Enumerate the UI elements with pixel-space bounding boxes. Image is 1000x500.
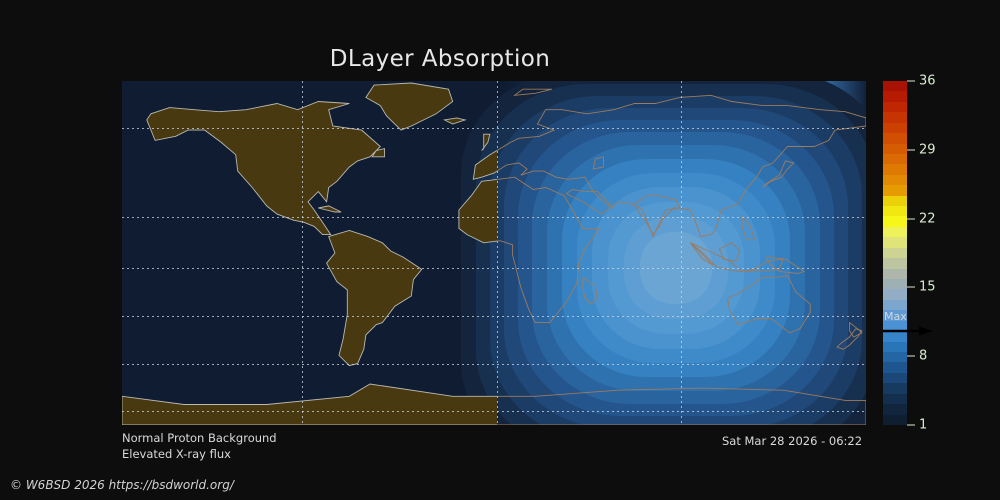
tick-mark [907, 218, 915, 219]
colorbar-segment [883, 185, 907, 195]
colorbar-segment [883, 279, 907, 289]
colorbar-tick: 1 [907, 419, 927, 432]
coastline-day [837, 329, 862, 349]
colorbar-segment [883, 415, 907, 425]
tick-label: 1 [919, 419, 927, 432]
coastline-day [742, 216, 754, 239]
landmass-night [122, 384, 866, 425]
tick-mark [907, 149, 915, 150]
max-marker-label: Max [884, 311, 907, 322]
tick-mark [907, 287, 915, 288]
colorbar-segment [883, 352, 907, 362]
continents-layer [122, 81, 866, 425]
tick-mark [907, 425, 915, 426]
landmass-night [366, 83, 453, 130]
landmass-night [473, 95, 866, 236]
colorbar-segment [883, 133, 907, 143]
colorbar-tick: 8 [907, 350, 927, 363]
colorbar-segment [883, 175, 907, 185]
colorbar-segment [883, 81, 907, 91]
copyright-notice: © W6BSD 2026 https://bsdworld.org/ [10, 478, 234, 492]
colorbar-segment [883, 342, 907, 352]
plot-canvas: DLayer Absorption 3629221581 Affected Fr… [0, 0, 1000, 500]
colorbar-max-marker: Max [883, 311, 945, 341]
colorbar-segment [883, 289, 907, 299]
colorbar-segment [883, 144, 907, 154]
coastline-day [473, 95, 866, 236]
colorbar-segment [883, 269, 907, 279]
landmass-night [327, 231, 422, 366]
status-text: Normal Proton Background Elevated X-ray … [122, 430, 277, 462]
colorbar-segment [883, 227, 907, 237]
world-map [122, 81, 866, 425]
colorbar-segment [883, 258, 907, 268]
colorbar-axis-label: Affected Frequency (MHz) [930, 81, 1000, 425]
colorbar-segment [883, 373, 907, 383]
coastline-day [728, 276, 811, 333]
landmass-night [459, 177, 600, 322]
landmass-night [482, 134, 490, 150]
colorbar-segment [883, 300, 907, 310]
landmass-night [318, 206, 341, 212]
colorbar-segment [883, 196, 907, 206]
colorbar-segment [883, 102, 907, 112]
page-title: DLayer Absorption [0, 46, 880, 72]
colorbar-segment [883, 123, 907, 133]
colorbar-segment [883, 404, 907, 414]
colorbar-segment [883, 216, 907, 226]
coastlines-svg [122, 81, 866, 425]
tick-mark [907, 356, 915, 357]
colorbar-segment [883, 154, 907, 164]
colorbar-segment [883, 164, 907, 174]
colorbar-segment [883, 206, 907, 216]
timestamp: Sat Mar 28 2026 - 06:22 [722, 434, 862, 448]
coastline-day [635, 196, 681, 235]
coastline-day [719, 243, 740, 261]
colorbar-segment [883, 237, 907, 247]
landmass-night [147, 102, 380, 235]
tick-label: 8 [919, 350, 927, 363]
colorbar-segment [883, 91, 907, 101]
arrow-right-icon [883, 325, 933, 337]
coastline-day [767, 257, 804, 273]
landmass-night [742, 216, 754, 239]
colorbar-segment [883, 383, 907, 393]
landmass-night [837, 329, 862, 349]
coastline-day [583, 278, 597, 305]
coastline-day [690, 243, 713, 265]
colorbar-gradient [883, 81, 907, 425]
status-line-2: Elevated X-ray flux [122, 446, 277, 462]
colorbar-segment [883, 362, 907, 372]
landmass-night [444, 118, 465, 124]
colorbar-segment [883, 394, 907, 404]
coastline-day [593, 157, 603, 169]
colorbar-segment [883, 112, 907, 122]
tick-mark [907, 81, 915, 82]
status-line-1: Normal Proton Background [122, 430, 277, 446]
coastline-day [515, 89, 552, 95]
colorbar-segment [883, 248, 907, 258]
